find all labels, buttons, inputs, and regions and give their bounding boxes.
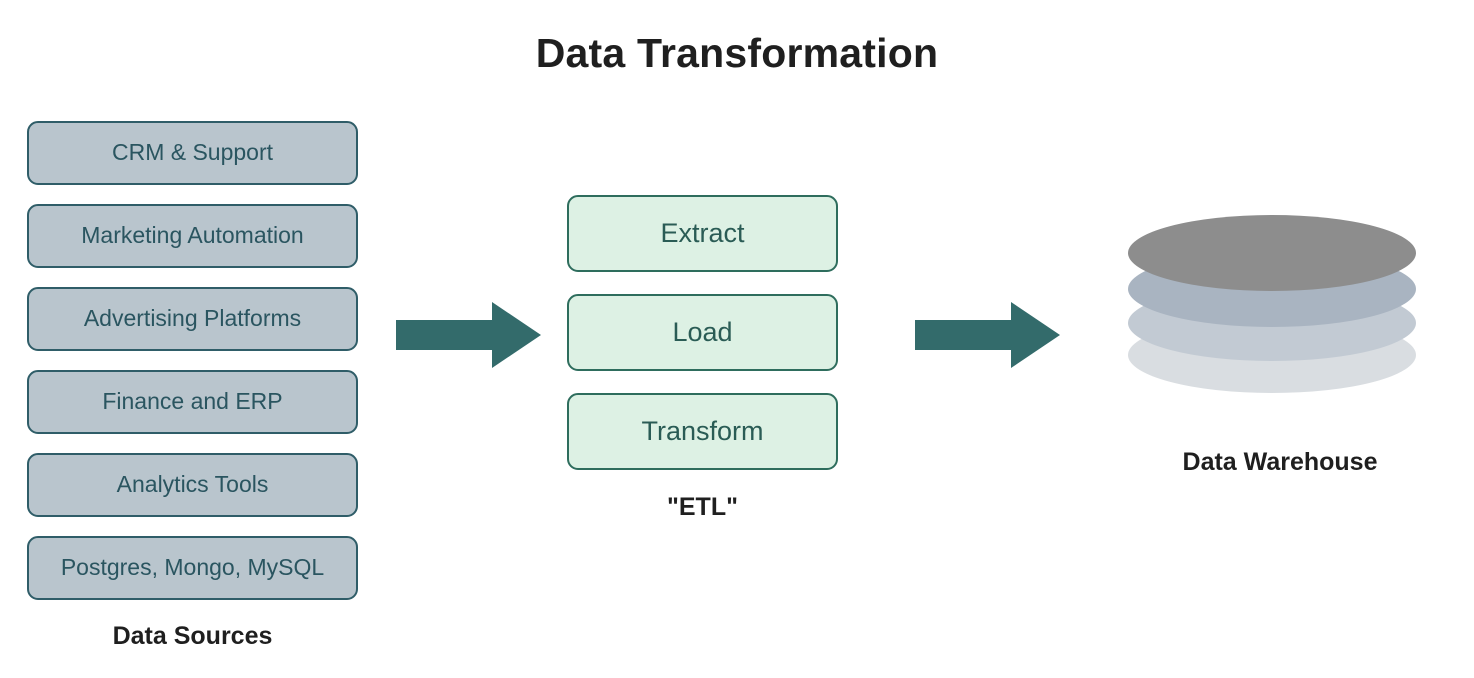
etl-box-load[interactable]: Load [567,294,838,371]
source-box-marketing-automation[interactable]: Marketing Automation [27,204,358,268]
etl-box-transform[interactable]: Transform [567,393,838,470]
source-box-label: Analytics Tools [117,472,269,497]
source-box-databases[interactable]: Postgres, Mongo, MySQL [27,536,358,600]
page-title: Data Transformation [0,30,1474,77]
source-box-label: Postgres, Mongo, MySQL [61,555,324,580]
source-box-label: CRM & Support [112,140,273,165]
etl-box-extract[interactable]: Extract [567,195,838,272]
source-box-crm-support[interactable]: CRM & Support [27,121,358,185]
database-cylinder-icon [1128,215,1436,410]
source-box-label: Advertising Platforms [84,306,301,331]
arrow-sources-to-etl-icon [396,302,541,368]
etl-box-label: Load [672,318,732,348]
data-warehouse-caption: Data Warehouse [1120,448,1440,477]
arrow-etl-to-warehouse-icon [915,302,1060,368]
etl-caption: "ETL" [567,493,838,522]
etl-box-label: Extract [660,219,744,249]
source-box-analytics-tools[interactable]: Analytics Tools [27,453,358,517]
source-box-finance-erp[interactable]: Finance and ERP [27,370,358,434]
data-sources-caption: Data Sources [27,622,358,651]
diagram-canvas: Data Transformation CRM & Support Market… [0,0,1474,678]
source-box-label: Marketing Automation [81,223,303,248]
right-arrow-icon [396,302,541,368]
source-box-label: Finance and ERP [102,389,282,414]
etl-box-label: Transform [641,417,763,447]
database-disk-1 [1128,215,1416,291]
source-box-advertising-platforms[interactable]: Advertising Platforms [27,287,358,351]
right-arrow-icon [915,302,1060,368]
